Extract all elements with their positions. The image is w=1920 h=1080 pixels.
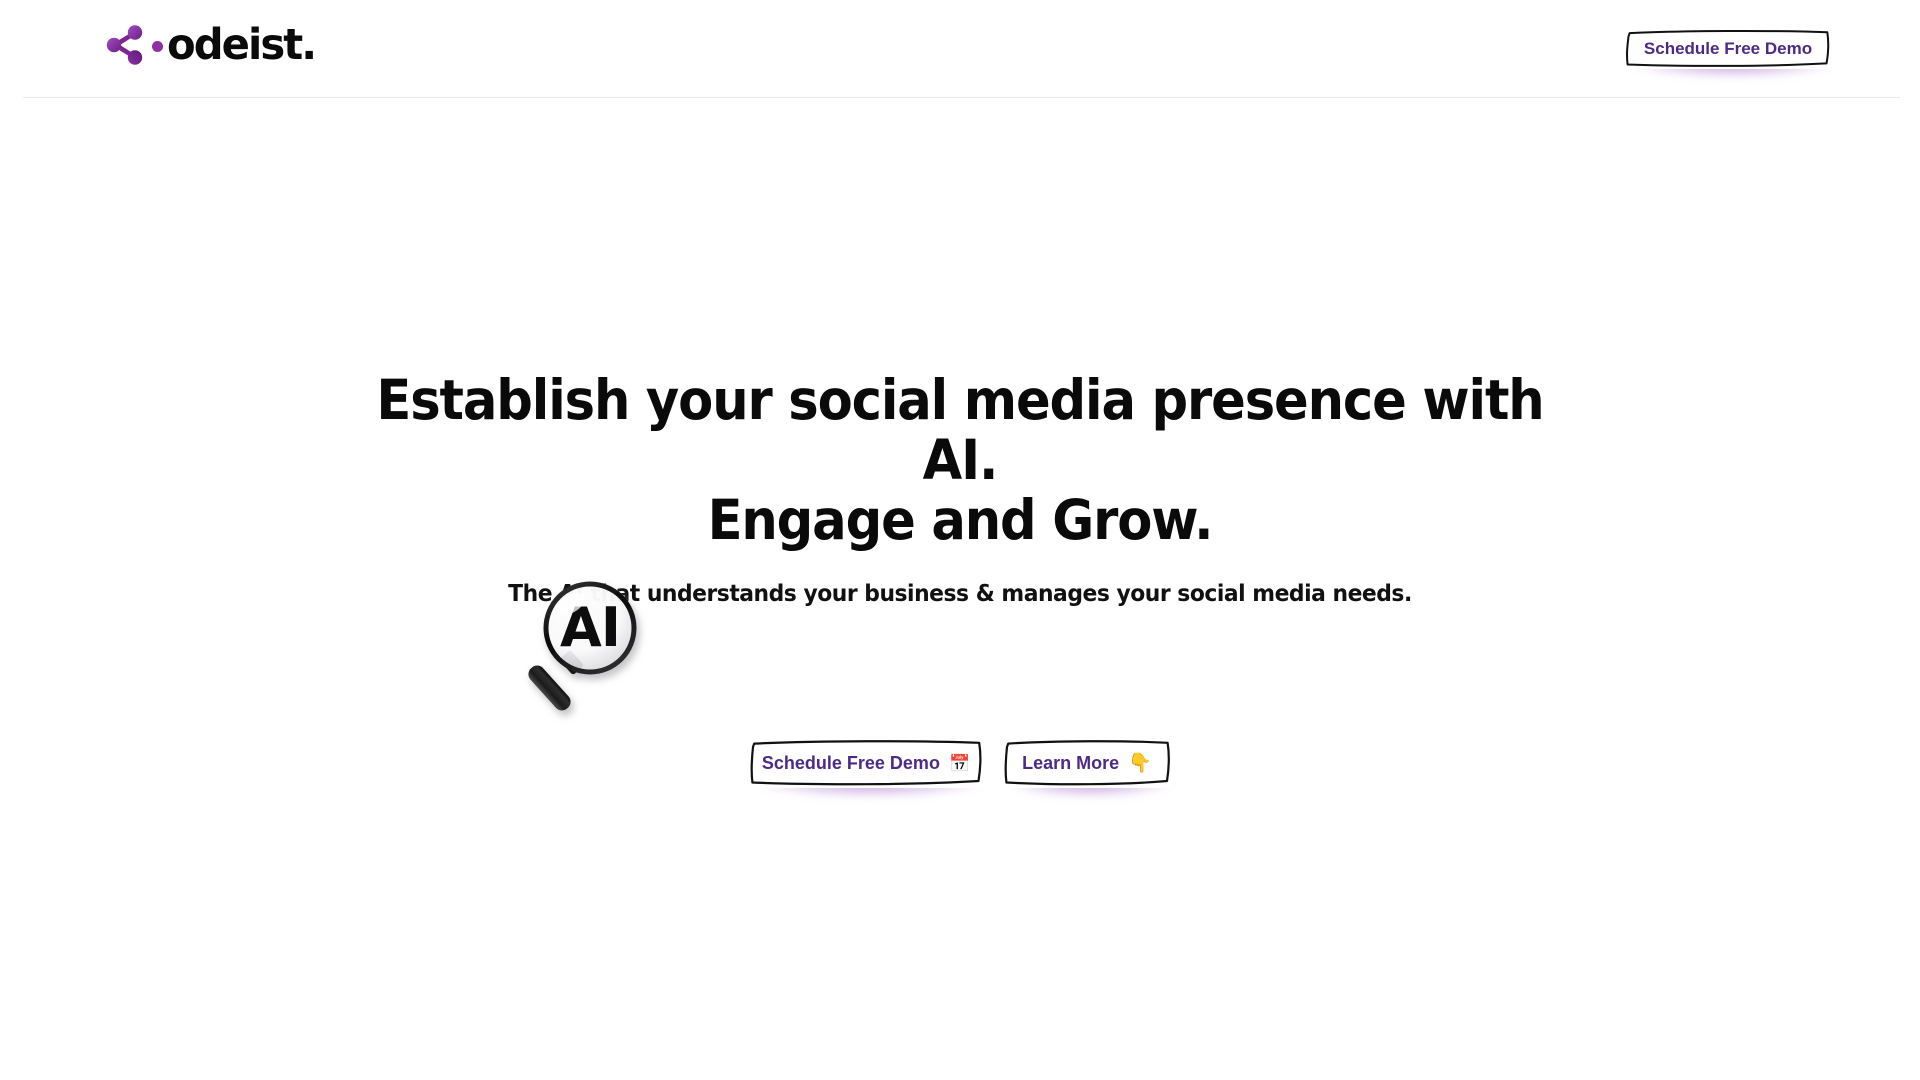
hero-schedule-free-demo-button[interactable]: Schedule Free Demo 📅: [748, 738, 984, 788]
hero-content: Establish your social media presence wit…: [300, 370, 1620, 608]
headline-line-2: Engage and Grow.: [346, 490, 1574, 550]
header-cta-label: Schedule Free Demo: [1644, 39, 1812, 59]
hero-cta-primary-label: Schedule Free Demo: [762, 753, 940, 774]
pointing-down-icon: 👇: [1128, 754, 1152, 773]
hero-subheading: The AI that understands your business & …: [333, 580, 1587, 608]
button-glow: [762, 781, 979, 797]
site-header: odeist. Schedule Free Demo: [0, 0, 1920, 98]
brand-accent-dot: [152, 41, 163, 52]
hero-cta-row: Schedule Free Demo 📅 Learn More 👇: [748, 738, 1172, 788]
button-glow: [1012, 781, 1168, 797]
hero-section: Establish your social media presence wit…: [0, 98, 1920, 1080]
hero-cta-secondary-label: Learn More: [1022, 753, 1119, 774]
share-network-icon: [103, 23, 151, 67]
button-glow: [1636, 63, 1829, 77]
hero-headline: Establish your social media presence wit…: [346, 370, 1574, 550]
header-divider: [23, 97, 1900, 98]
brand-wordmark: odeist.: [167, 24, 315, 67]
brand-logo-link[interactable]: odeist.: [103, 22, 320, 67]
calendar-icon: 📅: [949, 755, 970, 772]
headline-line-1: Establish your social media presence wit…: [346, 370, 1574, 490]
header-schedule-free-demo-button[interactable]: Schedule Free Demo: [1623, 28, 1833, 69]
hero-learn-more-button[interactable]: Learn More 👇: [1002, 738, 1172, 788]
